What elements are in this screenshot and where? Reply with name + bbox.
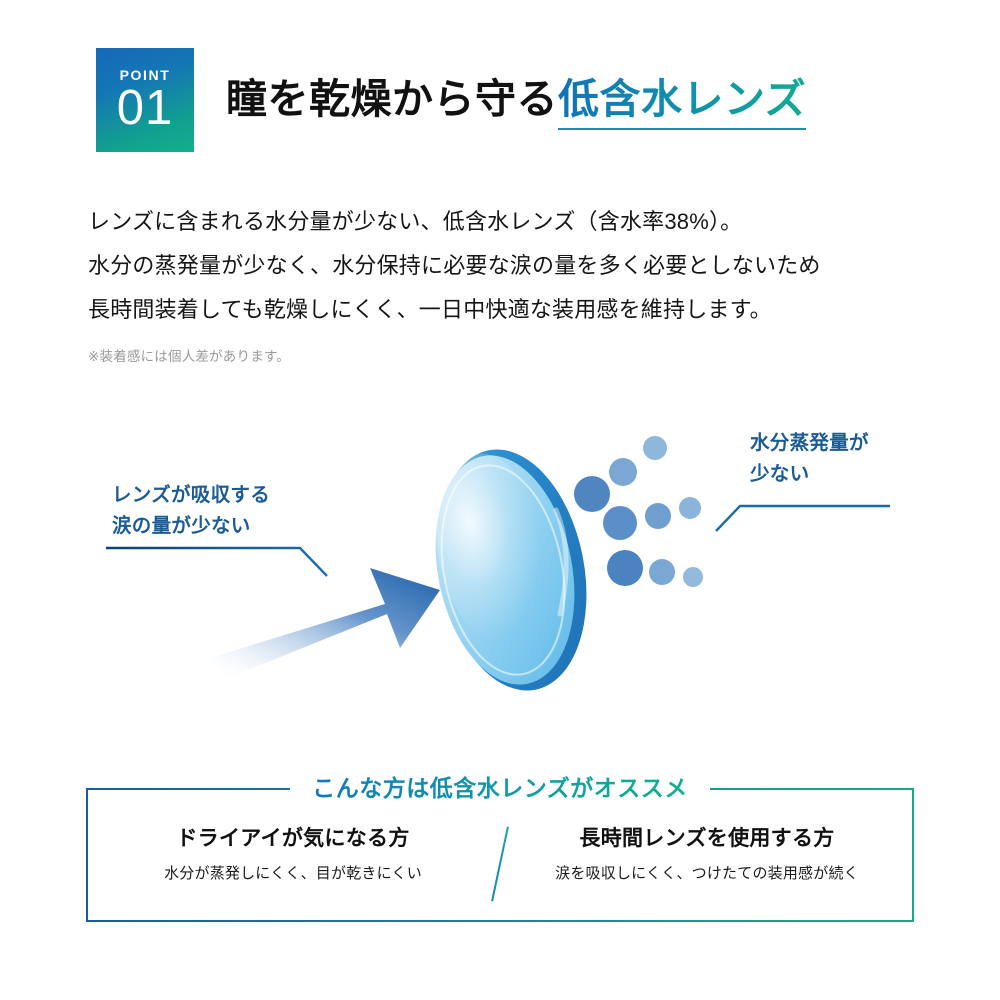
leader-line-right	[716, 506, 890, 531]
recommend-column-dry-eye: ドライアイが気になる方 水分が蒸発しにくく、目が乾きにくい	[86, 824, 500, 885]
droplet	[607, 550, 643, 586]
annotation-left-line1: レンズが吸収する	[112, 480, 270, 511]
droplet	[643, 436, 667, 460]
annotation-right: 水分蒸発量が 少ない	[750, 428, 869, 490]
lens-diagram: レンズが吸収する 涙の量が少ない 水分蒸発量が 少ない	[0, 400, 1000, 740]
droplet	[574, 476, 610, 512]
disclaimer-note: ※装着感には個人差があります。	[88, 345, 938, 365]
tears-absorption-arrow	[210, 568, 440, 678]
page-title: 瞳を乾燥から守る低含水レンズ	[226, 76, 806, 123]
droplet	[649, 559, 675, 585]
body-line: 長時間装着しても乾燥しにくく、一日中快適な装用感を維持します。	[88, 288, 938, 332]
recommend-column-long-wear: 長時間レンズを使用する方 涙を吸収しにくく、つけたての装用感が続く	[500, 824, 914, 885]
point-badge-label: POINT	[120, 68, 171, 82]
recommend-column-title: ドライアイが気になる方	[86, 824, 500, 854]
page-title-plain: 瞳を乾燥から守る	[226, 76, 558, 122]
leader-line-left	[106, 548, 327, 576]
annotation-left: レンズが吸収する 涙の量が少ない	[112, 480, 270, 542]
droplet	[609, 458, 637, 486]
droplet	[683, 567, 703, 587]
body-copy: レンズに含まれる水分量が少ない、低含水レンズ（含水率38%）。 水分の蒸発量が少…	[88, 200, 938, 365]
point-badge-number: 01	[117, 84, 174, 133]
evaporation-droplets	[574, 436, 703, 587]
recommend-columns: ドライアイが気になる方 水分が蒸発しにくく、目が乾きにくい 長時間レンズを使用す…	[86, 824, 914, 885]
recommend-column-title: 長時間レンズを使用する方	[500, 824, 914, 854]
point-badge: POINT 01	[96, 48, 194, 152]
droplet	[645, 503, 671, 529]
recommend-column-subtitle: 水分が蒸発しにくく、目が乾きにくい	[86, 863, 500, 885]
droplet	[679, 497, 701, 519]
point-header: POINT 01 瞳を乾燥から守る低含水レンズ	[96, 48, 806, 152]
annotation-left-line2: 涙の量が少ない	[112, 511, 270, 542]
recommend-column-subtitle: 涙を吸収しにくく、つけたての装用感が続く	[500, 863, 914, 885]
page-title-accent: 低含水レンズ	[558, 76, 806, 130]
annotation-right-line1: 水分蒸発量が	[750, 428, 869, 459]
droplet	[603, 506, 637, 540]
body-line: 水分の蒸発量が少なく、水分保持に必要な涙の量を多く必要としないため	[88, 244, 938, 288]
annotation-right-line2: 少ない	[750, 459, 869, 490]
body-line: レンズに含まれる水分量が少ない、低含水レンズ（含水率38%）。	[88, 200, 938, 244]
